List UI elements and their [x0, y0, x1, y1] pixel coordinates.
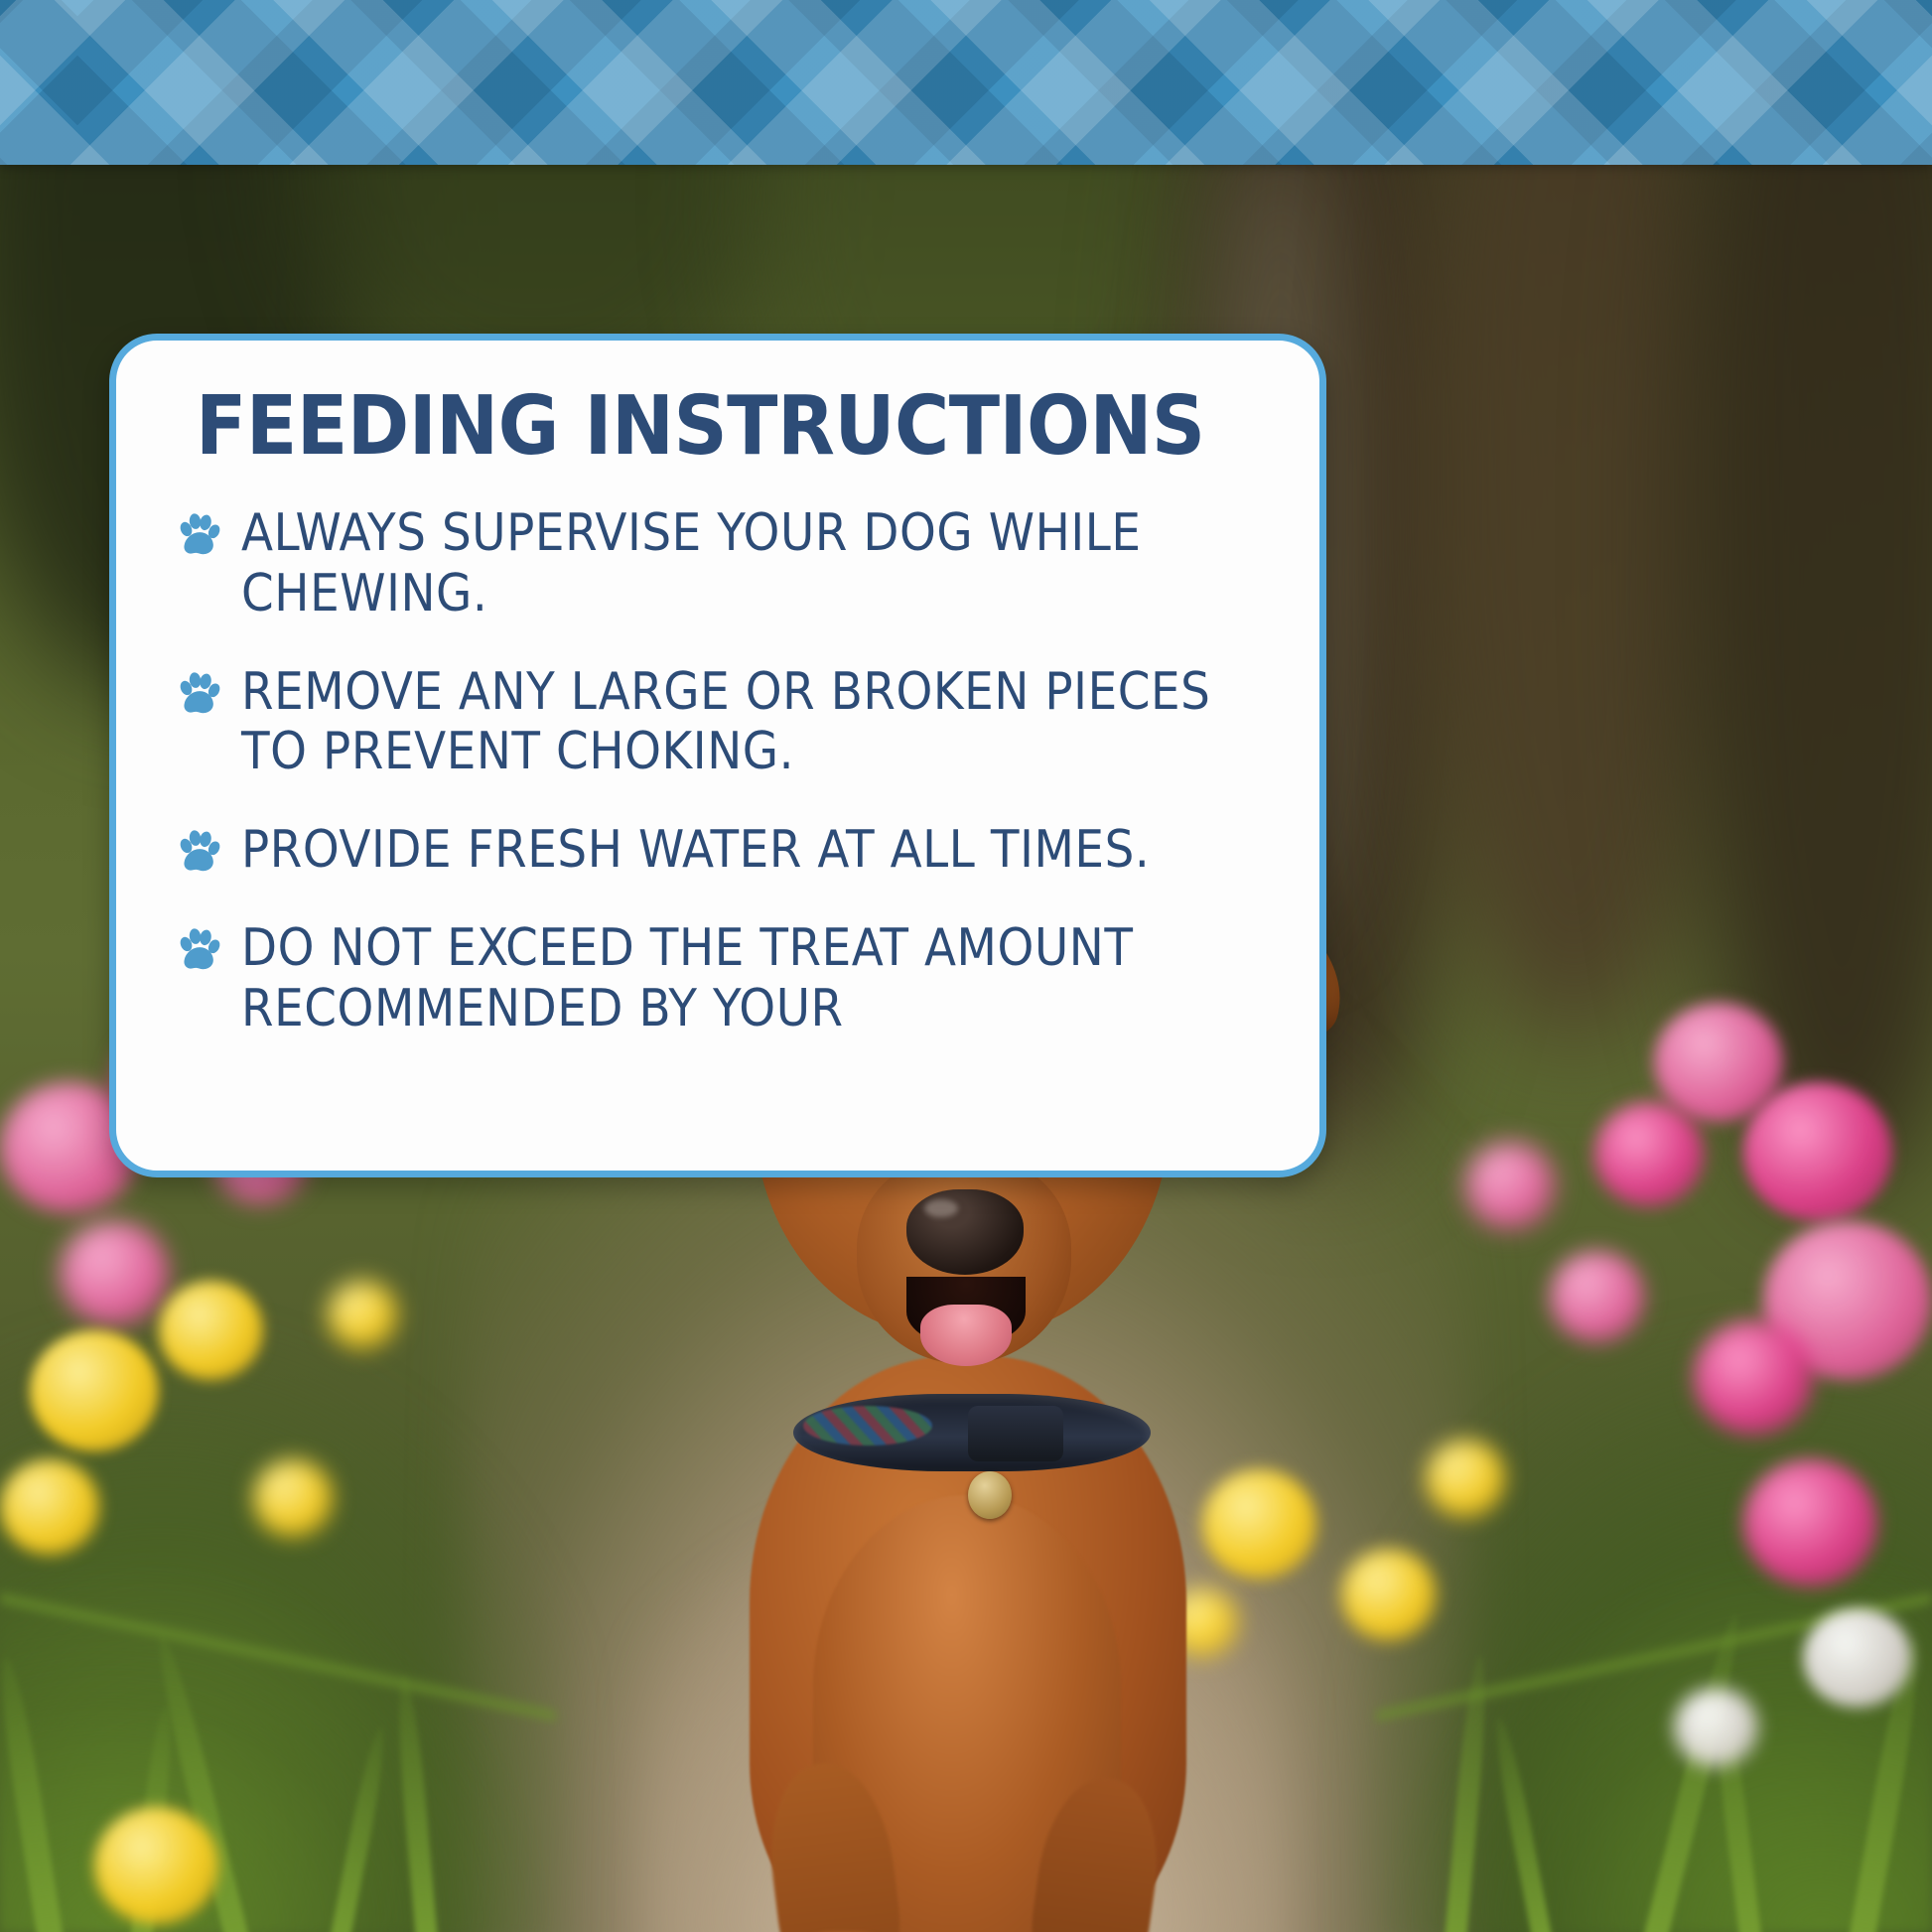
plaid-banner	[0, 0, 1932, 165]
flower-pink	[1694, 1320, 1813, 1435]
paw-print-icon	[174, 670, 223, 720]
flower-pink	[1550, 1251, 1644, 1342]
dog-tongue	[920, 1305, 1012, 1366]
list-item-label: PROVIDE FRESH WATER AT ALL TIMES.	[241, 820, 1150, 881]
flower-pink	[60, 1221, 169, 1325]
paw-print-icon	[174, 926, 223, 976]
flower-yellow	[328, 1281, 397, 1348]
list-item-label: DO NOT EXCEED THE TREAT AMOUNT RECOMMEND…	[241, 918, 1244, 1039]
flower-white	[1803, 1608, 1912, 1708]
flower-yellow	[159, 1281, 263, 1380]
flower-yellow	[1426, 1440, 1505, 1517]
paw-print-icon	[174, 511, 223, 561]
poster-canvas: FEEDING INSTRUCTIONS ALWAYS SUPERVISE	[0, 0, 1932, 1932]
list-item-label: ALWAYS SUPERVISE YOUR DOG WHILE CHEWING.	[241, 503, 1244, 624]
flower-yellow	[0, 1459, 99, 1555]
flower-yellow	[1341, 1549, 1436, 1640]
flower-yellow	[253, 1459, 333, 1537]
instructions-list: ALWAYS SUPERVISE YOUR DOG WHILE CHEWING.	[174, 503, 1262, 1039]
page-title: FEEDING INSTRUCTIONS	[196, 386, 1283, 468]
flower-yellow	[30, 1330, 159, 1451]
flower-pink	[1743, 1082, 1892, 1221]
list-item: DO NOT EXCEED THE TREAT AMOUNT RECOMMEND…	[174, 918, 1262, 1039]
dog-collar-tag	[968, 1471, 1012, 1519]
list-item: ALWAYS SUPERVISE YOUR DOG WHILE CHEWING.	[174, 503, 1262, 624]
flower-pink	[1465, 1142, 1555, 1229]
dog-collar-buckle	[968, 1406, 1063, 1461]
list-item-label: REMOVE ANY LARGE OR BROKEN PIECES TO PRE…	[241, 662, 1244, 783]
flower-pink	[1743, 1459, 1877, 1587]
list-item: PROVIDE FRESH WATER AT ALL TIMES.	[174, 820, 1262, 881]
dog-nose-shine	[924, 1199, 958, 1217]
flower-pink	[1594, 1102, 1704, 1206]
list-item: REMOVE ANY LARGE OR BROKEN PIECES TO PRE…	[174, 662, 1262, 783]
grass-blades-left	[0, 1505, 556, 1932]
flower-pink	[1654, 1003, 1783, 1122]
flower-yellow	[94, 1807, 218, 1924]
feeding-instructions-card: FEEDING INSTRUCTIONS ALWAYS SUPERVISE	[109, 334, 1326, 1177]
paw-print-icon	[174, 828, 223, 878]
flower-white	[1674, 1688, 1758, 1767]
dog-nose	[906, 1189, 1024, 1275]
dog-collar-pattern	[803, 1406, 932, 1446]
